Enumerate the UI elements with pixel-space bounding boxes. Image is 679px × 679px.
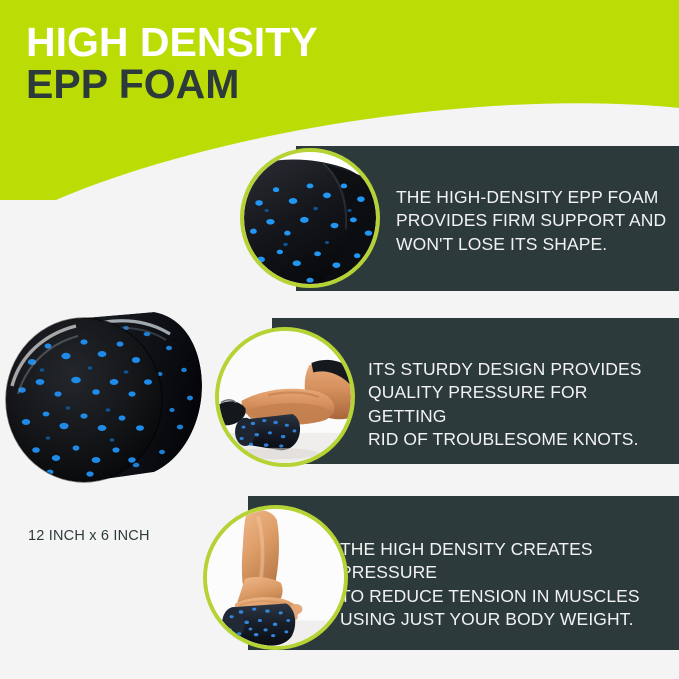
feature-text-3: THE HIGH DENSITY CREATES PRESSURE TO RED… bbox=[340, 538, 672, 631]
title-line-2: EPP FOAM bbox=[26, 64, 318, 104]
product-size-label: 12 INCH x 6 INCH bbox=[28, 528, 150, 544]
title-line-1: HIGH DENSITY bbox=[26, 22, 318, 62]
product-image-foam-roller bbox=[4, 282, 214, 497]
feature-image-1 bbox=[240, 148, 380, 288]
page-title: HIGH DENSITY EPP FOAM bbox=[26, 22, 318, 104]
feature-image-3 bbox=[203, 505, 348, 650]
product-infographic: HIGH DENSITY EPP FOAM bbox=[0, 0, 679, 679]
feature-text-1: THE HIGH-DENSITY EPP FOAM PROVIDES FIRM … bbox=[396, 186, 668, 256]
feature-image-2 bbox=[215, 327, 355, 467]
feature-text-2: ITS STURDY DESIGN PROVIDES QUALITY PRESS… bbox=[368, 358, 670, 451]
